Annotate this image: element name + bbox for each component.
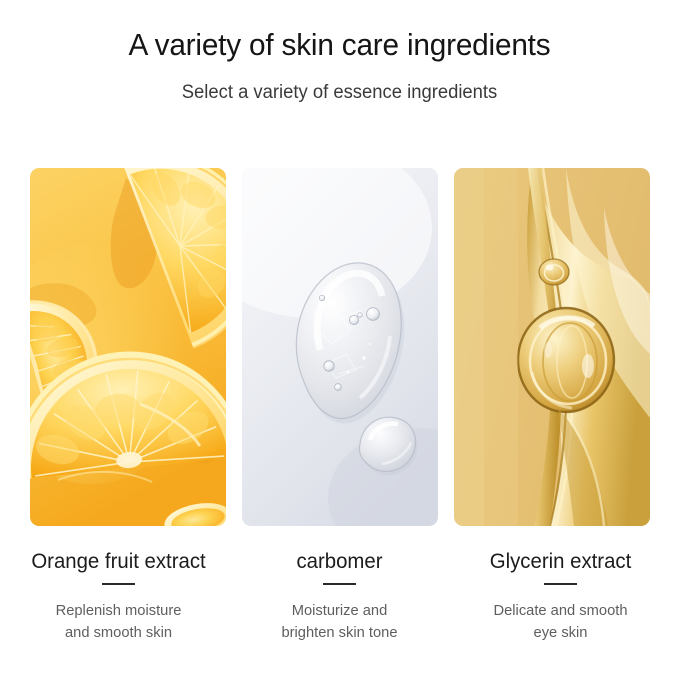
page-subtitle: Select a variety of essence ingredients (10, 80, 669, 106)
caption-description-line2: brighten skin tone (231, 622, 448, 644)
orange-fruit-slices-image (30, 168, 226, 526)
caption-description-line1: Moisturize and (231, 600, 448, 622)
ingredient-card-orange[interactable] (30, 168, 226, 526)
header: A variety of skin care ingredients Selec… (0, 0, 679, 106)
caption-title: Glycerin extract (453, 548, 667, 576)
caption-glycerin: Glycerin extract Delicate and smooth eye… (450, 548, 671, 644)
caption-rule (544, 583, 577, 585)
caption-description-line1: Replenish moisture (10, 600, 227, 622)
caption-description-line2: eye skin (452, 622, 669, 644)
ingredients-panel: A variety of skin care ingredients Selec… (0, 0, 679, 679)
caption-description: Delicate and smooth eye skin (452, 600, 669, 644)
caption-description-line1: Delicate and smooth (452, 600, 669, 622)
caption-rule (323, 583, 356, 585)
caption-orange: Orange fruit extract Replenish moisture … (8, 548, 229, 644)
ingredient-cards-row (30, 168, 650, 526)
ingredient-card-carbomer[interactable] (242, 168, 438, 526)
caption-rule (102, 583, 135, 585)
ingredient-card-glycerin[interactable] (454, 168, 650, 526)
glycerin-oil-bubble-image (454, 168, 650, 526)
caption-carbomer: carbomer Moisturize and brighten skin to… (229, 548, 450, 644)
caption-description: Moisturize and brighten skin tone (231, 600, 448, 644)
carbomer-gel-droplet-image (242, 168, 438, 526)
page-title: A variety of skin care ingredients (14, 26, 666, 64)
caption-description-line2: and smooth skin (10, 622, 227, 644)
ingredient-captions-row: Orange fruit extract Replenish moisture … (8, 548, 671, 644)
caption-title: carbomer (232, 548, 446, 576)
caption-description: Replenish moisture and smooth skin (10, 600, 227, 644)
caption-title: Orange fruit extract (11, 548, 225, 576)
